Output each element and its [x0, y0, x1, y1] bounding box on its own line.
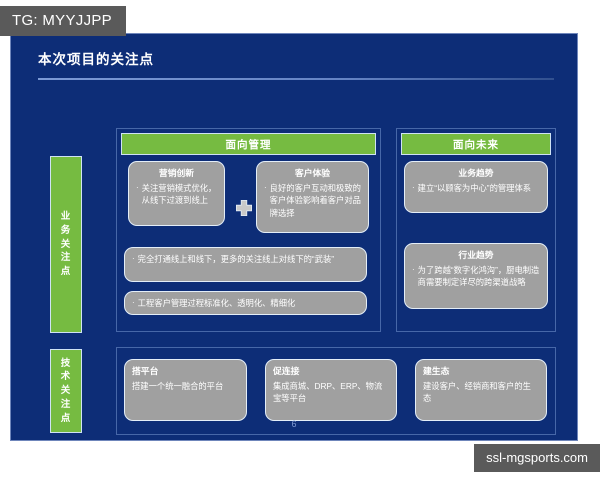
plus-cross-icon	[235, 199, 253, 217]
sidebar-label-business-focus-text: 业务关注点	[61, 210, 72, 279]
card-industry-trend-text: 为了跨越“数字化鸿沟”，厨电制造商需要制定详尽的跨渠道战略	[418, 264, 540, 290]
card-marketing-innovation-bullet: · 关注营销模式优化，从线下过渡到线上	[136, 182, 217, 208]
card-online-offline-integration-text: 完全打通线上和线下，更多的关注线上对线下的“武装”	[138, 253, 359, 266]
card-business-trend: 业务趋势 · 建立“以顾客为中心”的管理体系	[404, 161, 548, 213]
card-promote-connection-title: 促连接	[273, 365, 389, 379]
page-title: 本次项目的关注点	[38, 48, 154, 68]
section-header-future: 面向未来	[401, 133, 551, 155]
tag-badge: TG: MYYJJPP	[0, 6, 126, 36]
card-customer-experience: 客户体验 · 良好的客户互动和极致的客户体验影响着客户对品牌选择	[256, 161, 369, 233]
bullet-icon: ·	[136, 182, 139, 194]
card-customer-experience-text: 良好的客户互动和极致的客户体验影响着客户对品牌选择	[270, 182, 361, 221]
card-marketing-innovation-text: 关注营销模式优化，从线下过渡到线上	[142, 182, 217, 208]
card-marketing-innovation-title: 营销创新	[136, 167, 217, 181]
card-project-customer-process-bullet: · 工程客户管理过程标准化、透明化、精细化	[132, 297, 359, 310]
slide-canvas: 本次项目的关注点 业务关注点 技术关注点 面向管理 面向未来 营销创新 · 关注…	[10, 33, 578, 441]
bullet-icon: ·	[132, 253, 135, 265]
bullet-icon: ·	[412, 264, 415, 276]
card-business-trend-text: 建立“以顾客为中心”的管理体系	[418, 182, 540, 195]
bullet-icon: ·	[412, 182, 415, 194]
card-industry-trend-title: 行业趋势	[412, 249, 540, 263]
card-build-ecosystem-title: 建生态	[423, 365, 539, 379]
card-project-customer-process-text: 工程客户管理过程标准化、透明化、精细化	[138, 297, 359, 310]
page-number: 6	[11, 419, 577, 429]
watermark: ssl-mgsports.com	[474, 444, 600, 472]
screenshot-root: TG: MYYJJPP 本次项目的关注点 业务关注点 技术关注点 面向管理 面向…	[0, 0, 600, 480]
card-industry-trend: 行业趋势 · 为了跨越“数字化鸿沟”，厨电制造商需要制定详尽的跨渠道战略	[404, 243, 548, 309]
card-customer-experience-bullet: · 良好的客户互动和极致的客户体验影响着客户对品牌选择	[264, 182, 361, 221]
card-build-ecosystem: 建生态 建设客户、经销商和客户的生态	[415, 359, 547, 421]
sidebar-label-business-focus: 业务关注点	[50, 156, 82, 333]
sidebar-label-technology-focus-text: 技术关注点	[61, 357, 72, 426]
card-build-platform: 搭平台 搭建一个统一融合的平台	[124, 359, 247, 421]
card-build-platform-title: 搭平台	[132, 365, 239, 379]
card-industry-trend-bullet: · 为了跨越“数字化鸿沟”，厨电制造商需要制定详尽的跨渠道战略	[412, 264, 540, 290]
card-promote-connection: 促连接 集成商城、DRP、ERP、物流宝等平台	[265, 359, 397, 421]
bullet-icon: ·	[264, 182, 267, 194]
card-business-trend-bullet: · 建立“以顾客为中心”的管理体系	[412, 182, 540, 195]
card-online-offline-integration: · 完全打通线上和线下，更多的关注线上对线下的“武装”	[124, 247, 367, 282]
section-header-management: 面向管理	[121, 133, 376, 155]
bullet-icon: ·	[132, 297, 135, 309]
card-build-ecosystem-text: 建设客户、经销商和客户的生态	[423, 380, 539, 406]
card-business-trend-title: 业务趋势	[412, 167, 540, 181]
card-promote-connection-text: 集成商城、DRP、ERP、物流宝等平台	[273, 380, 389, 406]
card-build-platform-text: 搭建一个统一融合的平台	[132, 380, 239, 393]
card-project-customer-process: · 工程客户管理过程标准化、透明化、精细化	[124, 291, 367, 315]
title-divider	[38, 78, 554, 80]
card-marketing-innovation: 营销创新 · 关注营销模式优化，从线下过渡到线上	[128, 161, 225, 226]
card-online-offline-integration-bullet: · 完全打通线上和线下，更多的关注线上对线下的“武装”	[132, 253, 359, 266]
card-customer-experience-title: 客户体验	[264, 167, 361, 181]
